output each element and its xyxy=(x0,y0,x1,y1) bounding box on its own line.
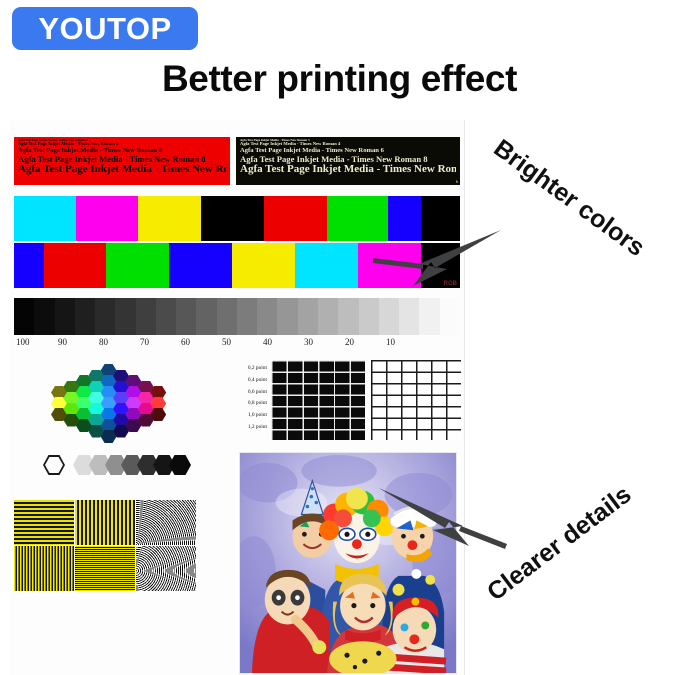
gray-step-17 xyxy=(359,298,379,335)
color-bar-red xyxy=(44,243,106,288)
pattern-horizontal-stripes-coarse xyxy=(14,500,74,545)
color-bar-yellow xyxy=(138,196,201,241)
text-line: Agfa Test Page Inkjet Media - Times New … xyxy=(18,164,226,176)
pattern-horizontal-stripes-fine xyxy=(75,546,135,591)
gray-step-1 xyxy=(34,298,54,335)
gray-step-9 xyxy=(196,298,216,335)
pattern-test-block xyxy=(14,500,196,592)
pattern-moire-upper xyxy=(136,500,196,545)
text-test-blocks: Agfa Test Page Inkjet Media - Times New … xyxy=(14,137,460,189)
color-bar-yellow xyxy=(232,243,295,288)
gray-step-21 xyxy=(440,298,460,335)
line-width-label: 1,2 point xyxy=(221,422,267,434)
printed-test-page: Agfa Test Page Inkjet Media - Times New … xyxy=(9,120,465,675)
gray-step-6 xyxy=(136,298,156,335)
callout-clearer-details: Clearer details xyxy=(455,466,679,626)
red-text-block: Agfa Test Page Inkjet Media - Times New … xyxy=(14,137,230,185)
black-text-block: Agfa Test Page Inkjet Media - Times New … xyxy=(236,137,460,185)
grayscale-steps xyxy=(14,298,460,335)
line-width-label: 0,6 point xyxy=(221,387,267,399)
brand-logo: YOUTOP xyxy=(12,7,198,50)
gray-step-19 xyxy=(399,298,419,335)
gray-label-100: 100 xyxy=(16,336,30,348)
gray-label-20: 20 xyxy=(345,336,354,348)
gray-step-13 xyxy=(277,298,297,335)
gray-step-16 xyxy=(338,298,358,335)
product-infographic: YOUTOP Better printing effect Agfa Test … xyxy=(0,0,679,675)
text-line: Agfa Test Page Inkjet Media - Times New … xyxy=(240,147,456,154)
gray-label-40: 40 xyxy=(263,336,272,348)
hexagon-swatch-row xyxy=(43,455,193,479)
gray-step-11 xyxy=(237,298,257,335)
callout-brighter-colors: Brighter colors xyxy=(455,128,679,298)
line-width-label: 0,2 point xyxy=(221,363,267,375)
gray-step-0 xyxy=(14,298,34,335)
color-bar-blue xyxy=(14,243,44,288)
arrow-to-photo xyxy=(377,486,507,556)
text-line: Agfa Test Page Inkjet Media - Times New … xyxy=(240,164,456,176)
color-bar-black xyxy=(201,196,264,241)
gray-step-7 xyxy=(156,298,176,335)
gray-label-60: 60 xyxy=(181,336,190,348)
gray-step-14 xyxy=(298,298,318,335)
line-width-label: 0,8 point xyxy=(221,398,267,410)
color-bar-blue xyxy=(169,243,232,288)
color-bar-cyan xyxy=(295,243,358,288)
gray-step-12 xyxy=(257,298,277,335)
black-line-grid xyxy=(271,360,365,440)
pattern-moire-lower xyxy=(136,546,196,591)
gray-step-15 xyxy=(318,298,338,335)
callout-brighter-colors-label: Brighter colors xyxy=(488,134,650,263)
color-bar-red xyxy=(264,196,327,241)
color-bar-cyan xyxy=(14,196,76,241)
gray-step-2 xyxy=(55,298,75,335)
text-line: Agfa Test Page Inkjet Media - Times New … xyxy=(18,155,226,164)
color-bar-magenta xyxy=(76,196,138,241)
hexagon-color-wheel xyxy=(41,360,183,448)
line-width-labels: 0,2 point0,4 point0,6 point0,8 point1,0 … xyxy=(221,363,267,435)
grayscale-labels: 100908070605040302010 xyxy=(14,336,460,348)
hex-outline xyxy=(43,455,65,475)
page-title: Better printing effect xyxy=(0,58,679,100)
gray-step-5 xyxy=(115,298,135,335)
pattern-vertical-stripes-coarse xyxy=(75,500,135,545)
gray-label-90: 90 xyxy=(58,336,67,348)
arrow-to-color-bars xyxy=(373,228,503,288)
gray-label-80: 80 xyxy=(99,336,108,348)
line-width-label: 0,4 point xyxy=(221,375,267,387)
pattern-vertical-stripes-fine xyxy=(14,546,74,591)
white-line-grid xyxy=(371,360,461,440)
hex-black xyxy=(169,455,191,475)
gray-label-70: 70 xyxy=(140,336,149,348)
gray-step-20 xyxy=(419,298,439,335)
line-width-label: 1,0 point xyxy=(221,410,267,422)
gray-label-50: 50 xyxy=(222,336,231,348)
gray-step-8 xyxy=(176,298,196,335)
brand-logo-text: YOUTOP xyxy=(38,13,171,44)
text-line: Agfa Test Page Inkjet Media - Times New … xyxy=(18,147,226,154)
gray-step-18 xyxy=(379,298,399,335)
gray-step-3 xyxy=(75,298,95,335)
gray-step-4 xyxy=(95,298,115,335)
gray-label-30: 30 xyxy=(304,336,313,348)
grayscale-step-wedge: 100908070605040302010 xyxy=(14,298,460,348)
color-bar-green xyxy=(106,243,169,288)
gray-label-10: 10 xyxy=(386,336,395,348)
text-line: Agfa Test Page Inkjet Media - Times New … xyxy=(240,155,456,164)
gray-step-10 xyxy=(217,298,237,335)
